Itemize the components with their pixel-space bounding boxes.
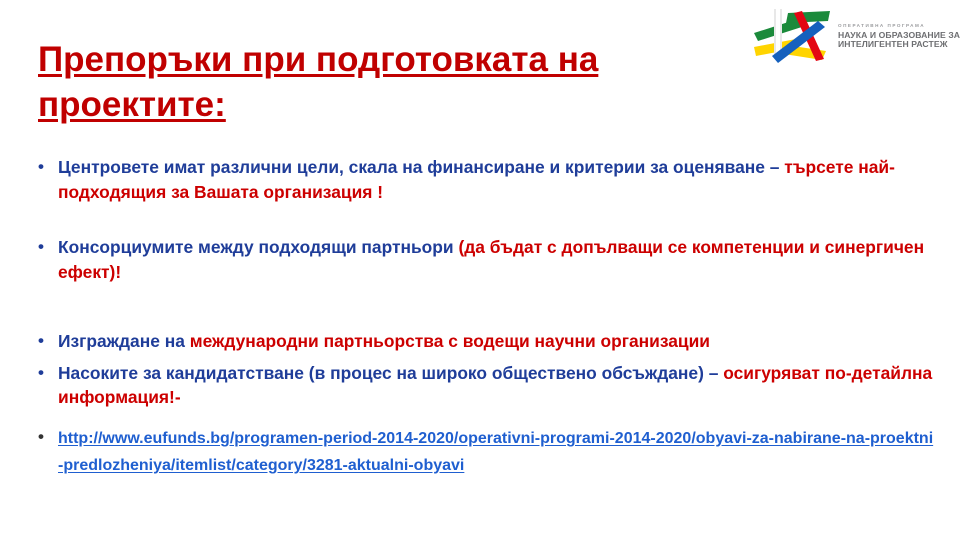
list-item: • Изграждане на международни партньорств… [38,329,938,354]
bullet-marker-icon: • [38,155,58,179]
slide-title: Препоръки при подготовката на проектите: [38,38,678,128]
list-item-link[interactable]: • http://www.eufunds.bg/programen-period… [38,425,938,479]
bullet-text: Насоките за кандидатстване (в процес на … [58,361,938,410]
list-item: • Консорциумите между подходящи партньор… [38,235,938,284]
list-item: • Насоките за кандидатстване (в процес н… [38,361,938,410]
bullet-marker-icon: • [38,425,58,449]
bullet-text-blue: Консорциумите между подходящи партньори [58,237,458,257]
bullet-text-blue: Насоките за кандидатстване (в процес на … [58,363,723,383]
bullet-text: http://www.eufunds.bg/programen-period-2… [58,425,938,479]
bullet-marker-icon: • [38,361,58,385]
bullet-text: Консорциумите между подходящи партньори … [58,235,938,284]
logo-ribbons-icon [752,7,834,67]
slide-canvas: ОПЕРАТИВНА ПРОГРАМА НАУКА И ОБРАЗОВАНИЕ … [0,0,970,550]
external-link[interactable]: http://www.eufunds.bg/programen-period-2… [58,430,933,474]
bullet-text-blue: Изграждане на [58,331,190,351]
bullet-text-blue: Центровете имат различни цели, скала на … [58,157,784,177]
program-logo: ОПЕРАТИВНА ПРОГРАМА НАУКА И ОБРАЗОВАНИЕ … [752,6,962,68]
list-item: • Центровете имат различни цели, скала н… [38,155,938,204]
bullet-text: Центровете имат различни цели, скала на … [58,155,938,204]
logo-kicker: ОПЕРАТИВНА ПРОГРАМА [838,24,960,29]
logo-text-block: ОПЕРАТИВНА ПРОГРАМА НАУКА И ОБРАЗОВАНИЕ … [838,24,960,50]
bullet-text-red: международни партньорства с водещи научн… [190,331,710,351]
bullet-marker-icon: • [38,235,58,259]
logo-line-2: ИНТЕЛИГЕНТЕН РАСТЕЖ [838,40,960,49]
slide-body: • Центровете имат различни цели, скала н… [38,155,938,479]
bullet-text: Изграждане на международни партньорства … [58,329,938,354]
bullet-marker-icon: • [38,329,58,353]
